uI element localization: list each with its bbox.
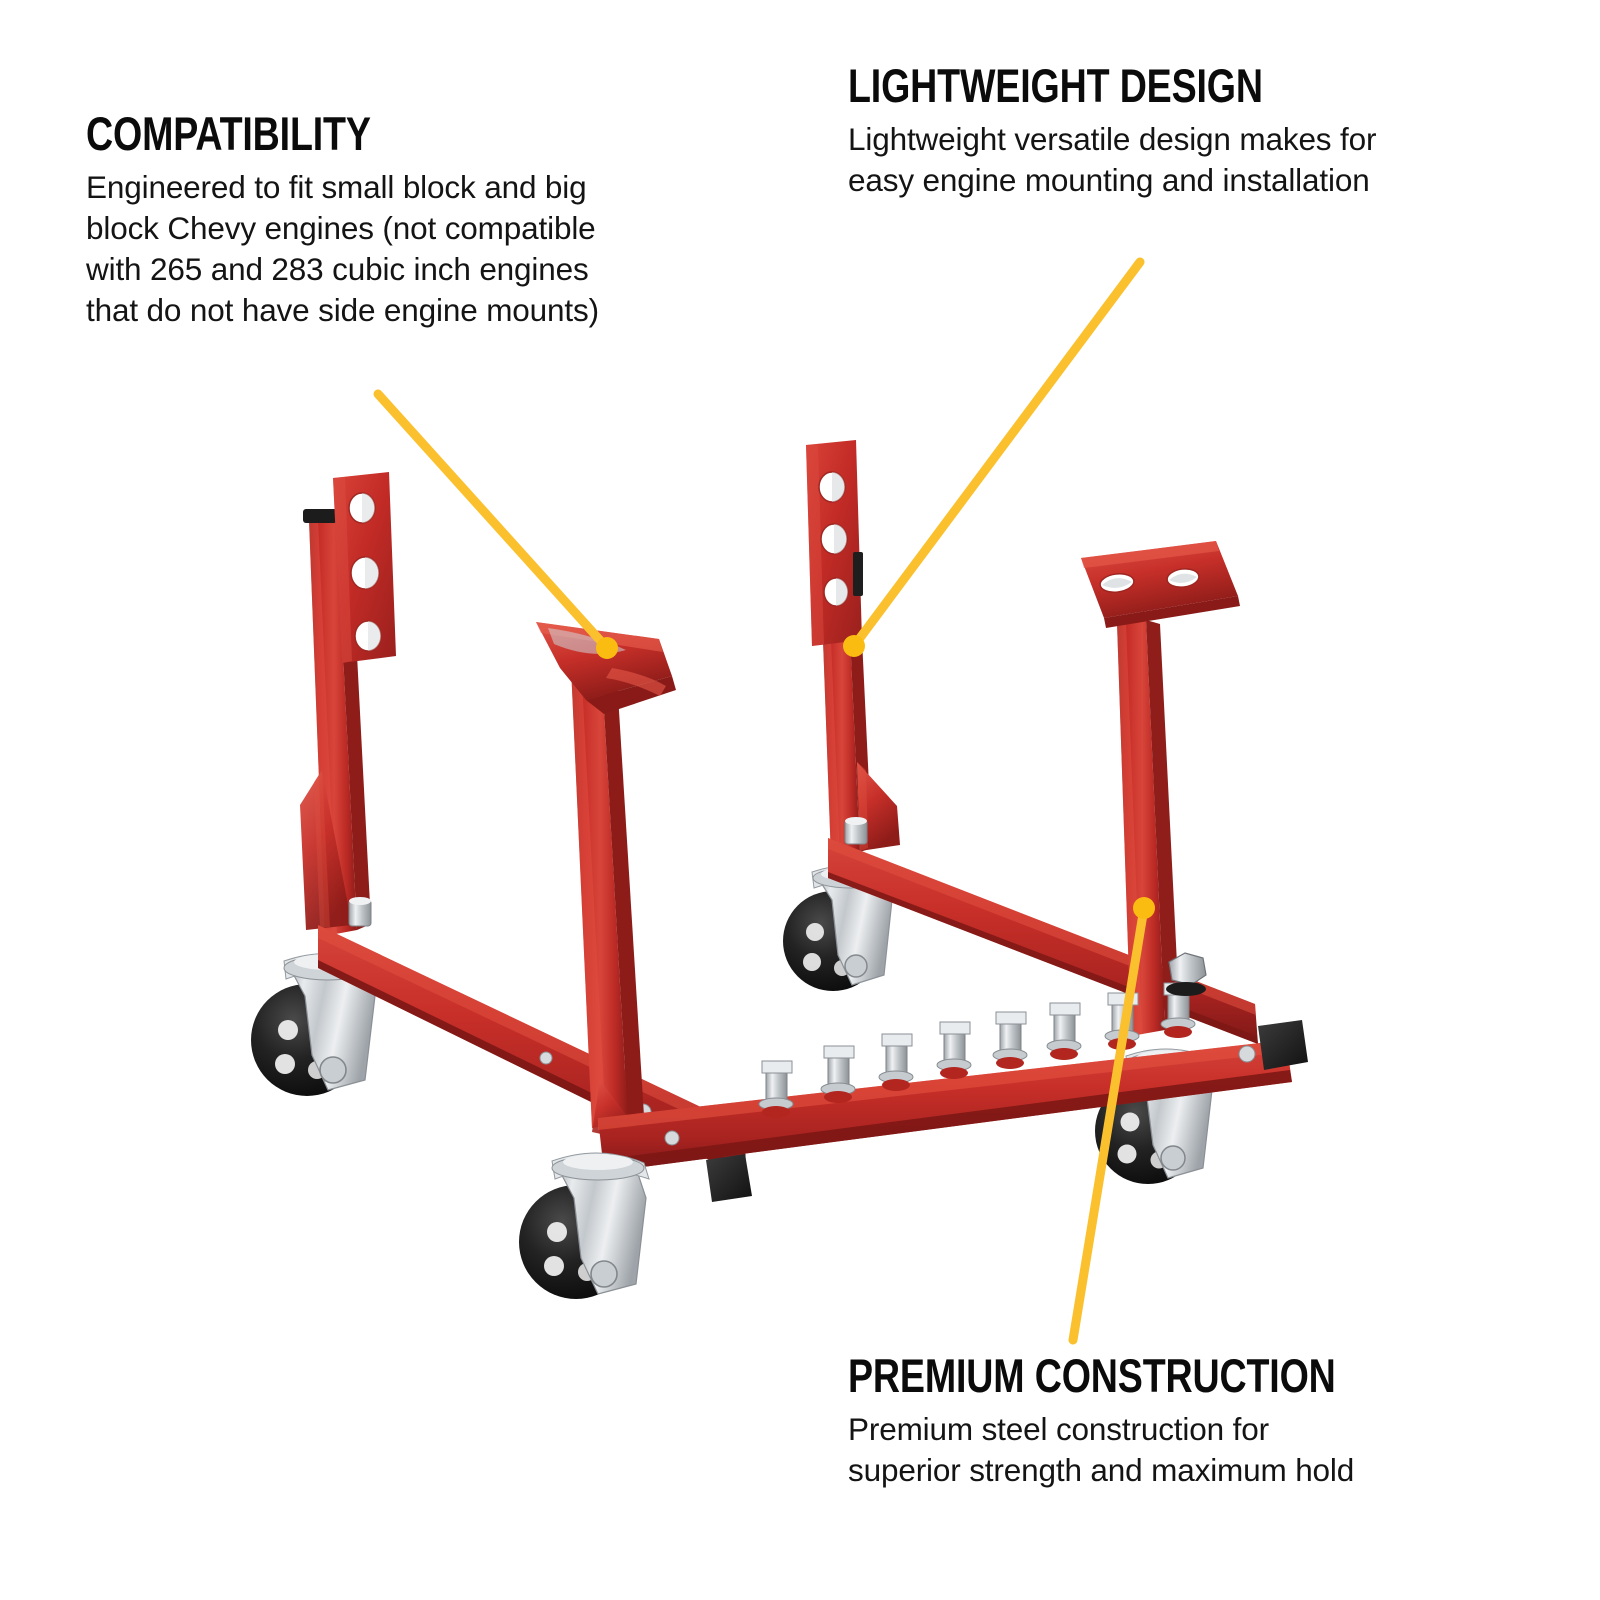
rear-mount-bracket-plate bbox=[806, 440, 863, 646]
body-line: easy engine mounting and installation bbox=[848, 160, 1548, 201]
bolt bbox=[759, 1061, 793, 1118]
bolt bbox=[821, 1046, 855, 1103]
callout-compatibility-body: Engineered to fit small block and big bl… bbox=[86, 167, 746, 331]
bolt bbox=[879, 1034, 913, 1091]
callout-lightweight-body: Lightweight versatile design makes for e… bbox=[848, 119, 1548, 201]
bolt bbox=[937, 1022, 971, 1079]
callout-lightweight-title: LIGHTWEIGHT DESIGN bbox=[848, 62, 1408, 109]
body-line: superior strength and maximum hold bbox=[848, 1450, 1548, 1491]
body-line: block Chevy engines (not compatible bbox=[86, 208, 746, 249]
body-line: with 265 and 283 cubic inch engines bbox=[86, 249, 746, 290]
left-rail-bolt bbox=[349, 897, 371, 926]
bolt bbox=[1047, 1003, 1081, 1060]
right-top-mount-plate bbox=[1081, 541, 1240, 628]
callout-lightweight-design: LIGHTWEIGHT DESIGN Lightweight versatile… bbox=[848, 62, 1548, 201]
callout-premium-body: Premium steel construction for superior … bbox=[848, 1409, 1548, 1491]
callout-premium-title: PREMIUM CONSTRUCTION bbox=[848, 1352, 1408, 1399]
left-mount-bracket-plate bbox=[333, 472, 396, 663]
rear-caster-bolt bbox=[845, 817, 867, 844]
body-line: Premium steel construction for bbox=[848, 1409, 1548, 1450]
callout-premium-construction: PREMIUM CONSTRUCTION Premium steel const… bbox=[848, 1352, 1548, 1491]
callout-compatibility-title: COMPATIBILITY bbox=[86, 110, 614, 157]
front-center-caster bbox=[519, 1153, 649, 1299]
body-line: that do not have side engine mounts) bbox=[86, 290, 746, 331]
body-line: Lightweight versatile design makes for bbox=[848, 119, 1548, 160]
base-frame-rail-back bbox=[828, 838, 1258, 1044]
callout-compatibility: COMPATIBILITY Engineered to fit small bl… bbox=[86, 110, 746, 331]
infographic-canvas: COMPATIBILITY Engineered to fit small bl… bbox=[0, 0, 1600, 1600]
bolt bbox=[993, 1012, 1027, 1069]
body-line: Engineered to fit small block and big bbox=[86, 167, 746, 208]
center-angled-mount-plate bbox=[536, 622, 676, 714]
